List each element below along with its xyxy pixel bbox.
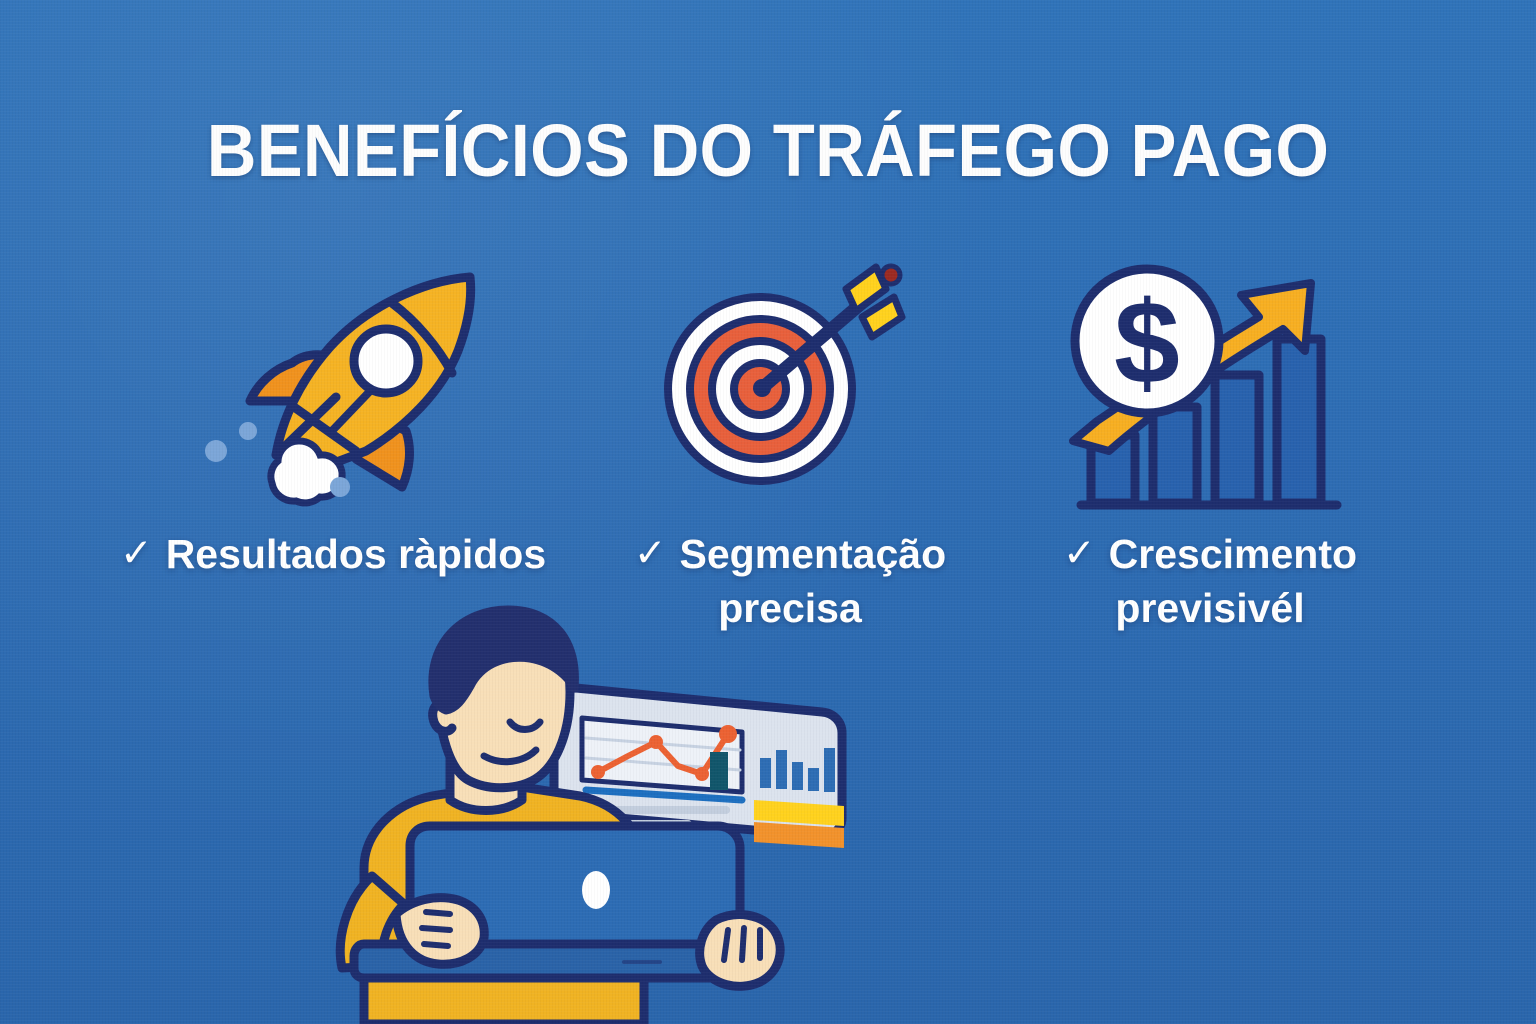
benefit-label-2-line1: Segmentação	[680, 531, 947, 577]
check-icon: ✓	[120, 528, 153, 580]
check-icon: ✓	[1063, 528, 1096, 580]
target-icon	[650, 255, 920, 515]
benefit-label-3-line1: Crescimento	[1109, 531, 1357, 577]
person-with-laptop-illustration	[150, 600, 910, 1024]
benefit-label-1: Resultados ràpidos	[166, 531, 546, 577]
page-title: BENEFÍCIOS DO TRÁFEGO PAGO	[54, 108, 1482, 193]
check-icon: ✓	[634, 528, 667, 580]
benefit-label-3-line2: previsivél	[1010, 582, 1410, 634]
benefit-item-3: ✓Crescimento previsivél	[1010, 528, 1410, 634]
poster-canvas: BENEFÍCIOS DO TRÁFEGO PAGO	[0, 0, 1536, 1024]
svg-text:$: $	[1114, 277, 1180, 409]
rocket-icon	[170, 255, 510, 515]
growth-icon: $	[1055, 255, 1355, 515]
benefit-item-1: ✓Resultados ràpidos	[120, 528, 600, 582]
